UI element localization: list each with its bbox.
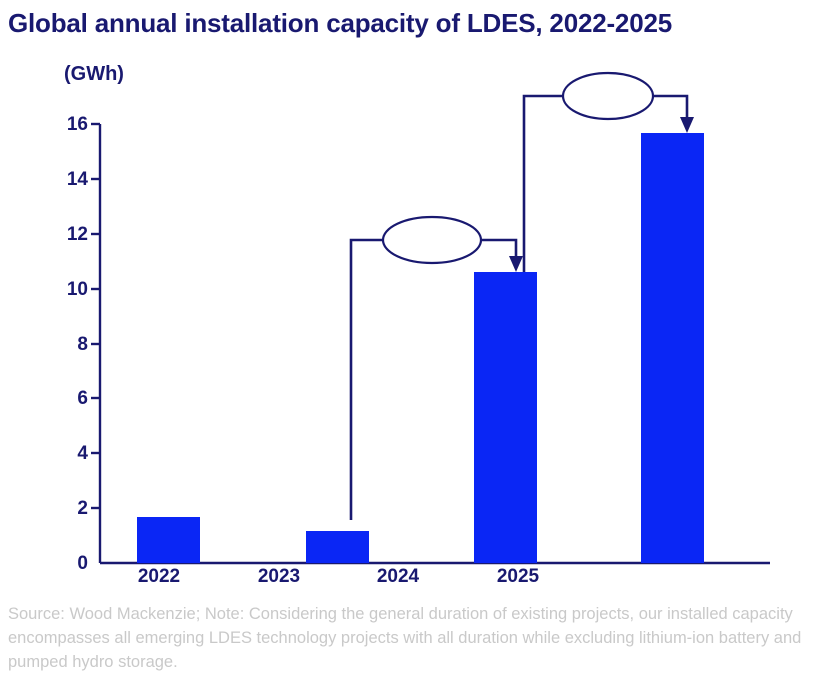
plot-area [0,0,835,600]
annotation-arrow-806-icon [509,256,523,272]
bar-2025 [641,133,704,563]
chart-container: Global annual installation capacity of L… [0,0,835,685]
bar-2022 [137,517,200,563]
annotation-bubble-806 [383,217,481,263]
bar-2024 [474,272,537,563]
source-note: Source: Wood Mackenzie; Note: Considerin… [8,603,826,675]
bar-2023 [306,531,369,563]
annotation-arrow-49-icon [680,117,694,133]
y-axis-ticks [91,124,100,508]
annotation-bubble-49 [563,73,653,119]
